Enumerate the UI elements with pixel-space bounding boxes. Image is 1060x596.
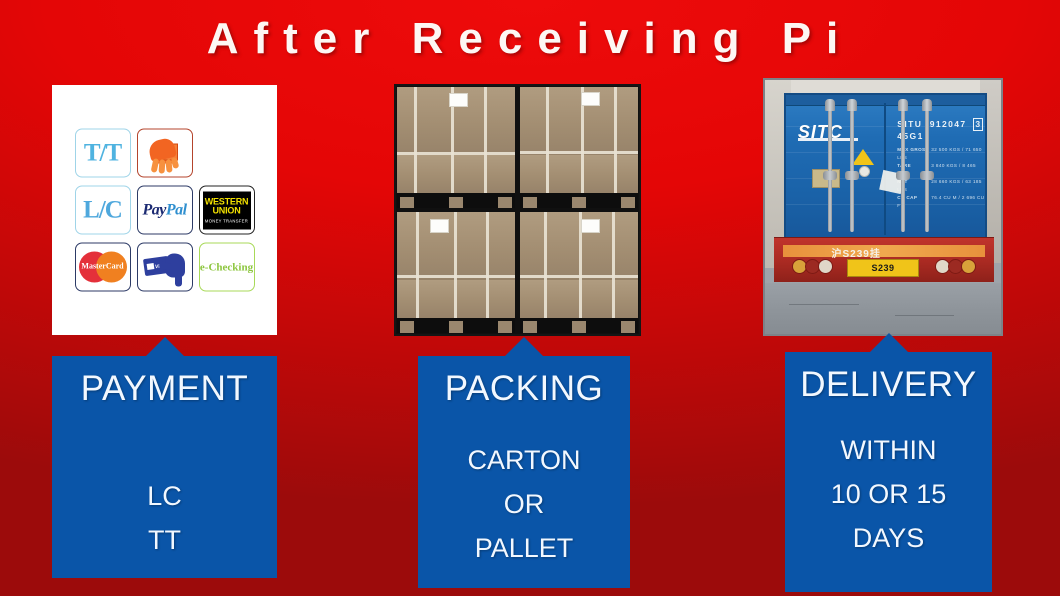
payment-method-western-union: WESTERN UNION MONEY TRANSFER <box>199 186 255 235</box>
callout-delivery: DELIVERY WITHIN 10 OR 15 DAYS <box>785 352 992 592</box>
tt-label: T/T <box>84 139 121 167</box>
paypal-logo: PayPal <box>142 201 186 219</box>
container-specs: MAX GROSS32 500 KGS / 71 650 LBS TARE3 8… <box>897 146 985 210</box>
callout-title: PAYMENT <box>52 370 277 408</box>
cash-hand-icon <box>143 133 187 173</box>
chassis-plate-text: 沪S239挂 <box>832 245 881 260</box>
license-plate: S239 <box>847 259 919 277</box>
callout-title: DELIVERY <box>785 366 992 404</box>
callout-payment: PAYMENT LC TT <box>52 356 277 578</box>
payment-method-paypal: PayPal <box>137 186 193 235</box>
payment-method-tt: T/T <box>75 129 131 178</box>
page-title: After Receiving Pi <box>0 14 1060 64</box>
truck-chassis: 沪S239挂 S239 <box>774 237 993 281</box>
callout-pointer <box>146 337 184 356</box>
door-seal-icon <box>859 166 870 177</box>
payment-method-e-checking: e-Checking <box>199 243 255 292</box>
mastercard-logo: MasterCard <box>79 252 127 283</box>
delivery-photo: SITC SITU 912047 3 45G1 MAX GROSS32 500 … <box>763 78 1003 336</box>
shipping-container: SITC SITU 912047 3 45G1 MAX GROSS32 500 … <box>784 93 987 240</box>
e-checking-label: e-Checking <box>200 261 253 273</box>
payment-methods-panel: T/T L/C PayPal WESTERN UNION MONEY TRANS… <box>52 85 277 335</box>
visa-card-hand-icon: VISA <box>142 248 188 286</box>
container-code: SITU 912047 3 45G1 <box>897 118 983 142</box>
pallet-stack <box>520 212 637 332</box>
packing-photo <box>394 84 641 336</box>
payment-method-cash-in-hand <box>137 129 193 178</box>
pallet-stack <box>397 212 514 332</box>
callout-title: PACKING <box>418 370 630 408</box>
callout-body: LC TT <box>52 474 277 562</box>
callout-body: WITHIN 10 OR 15 DAYS <box>785 428 992 560</box>
pallet-stack <box>397 87 514 207</box>
western-union-logo: WESTERN UNION MONEY TRANSFER <box>203 191 251 229</box>
ground <box>765 283 1001 334</box>
callout-pointer <box>870 333 908 352</box>
callout-packing: PACKING CARTON OR PALLET <box>418 356 630 588</box>
payment-method-lc: L/C <box>75 186 131 235</box>
payment-method-mastercard: MasterCard <box>75 243 131 292</box>
payment-grid-spacer <box>199 129 255 178</box>
lc-label: L/C <box>83 196 122 224</box>
payment-method-visa-in-hand: VISA <box>137 243 193 292</box>
warning-triangle-icon <box>852 149 874 165</box>
payment-methods-grid: T/T L/C PayPal WESTERN UNION MONEY TRANS… <box>75 129 255 292</box>
callout-body: CARTON OR PALLET <box>418 438 630 570</box>
callout-pointer <box>505 337 543 356</box>
slide-canvas: After Receiving Pi T/T L/C PayPal <box>0 0 1060 596</box>
pallet-stack <box>520 87 637 207</box>
